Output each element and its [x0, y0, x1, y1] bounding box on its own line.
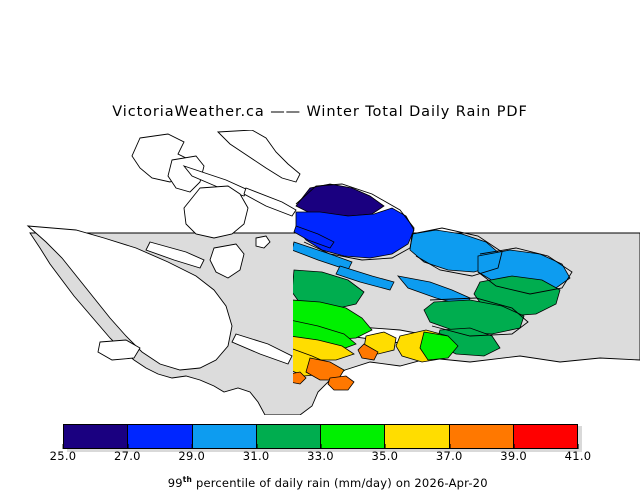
colorbar-segment-6 [450, 425, 514, 448]
colorbar-segment-4 [321, 425, 385, 448]
tick-mark [127, 444, 128, 449]
water-body-central-bay [184, 186, 248, 238]
figure-canvas: VictoriaWeather.ca —— Winter Total Daily… [0, 0, 640, 480]
colorbar-segment-5 [385, 425, 449, 448]
water-body-north-long [218, 130, 300, 182]
colorbar-segment-7 [514, 425, 577, 448]
tick-mark [514, 444, 515, 449]
contour-region-25-27 [296, 184, 384, 216]
island-south-b [328, 376, 354, 390]
tick-mark [578, 444, 579, 449]
chart-title: VictoriaWeather.ca —— Winter Total Daily… [0, 104, 640, 120]
colorbar-segment-1 [128, 425, 192, 448]
colorbar-segment-3 [257, 425, 321, 448]
map-svg [0, 130, 640, 415]
map-panel [0, 130, 640, 415]
water-body-mid-sliver [244, 188, 296, 216]
colorbar-segment-0 [64, 425, 128, 448]
caption-prefix: 99 [168, 476, 183, 490]
tick-mark [385, 444, 386, 449]
colorbar-segment-2 [193, 425, 257, 448]
contour-fill-layer [290, 184, 570, 390]
caption-suffix: percentile of daily rain (mm/day) on 202… [192, 476, 488, 490]
tick-mark [63, 444, 64, 449]
tick-mark [256, 444, 257, 449]
colorbar-caption: 99th percentile of daily rain (mm/day) o… [0, 461, 640, 504]
tick-mark [449, 444, 450, 449]
tick-mark [321, 444, 322, 449]
tick-mark [192, 444, 193, 449]
